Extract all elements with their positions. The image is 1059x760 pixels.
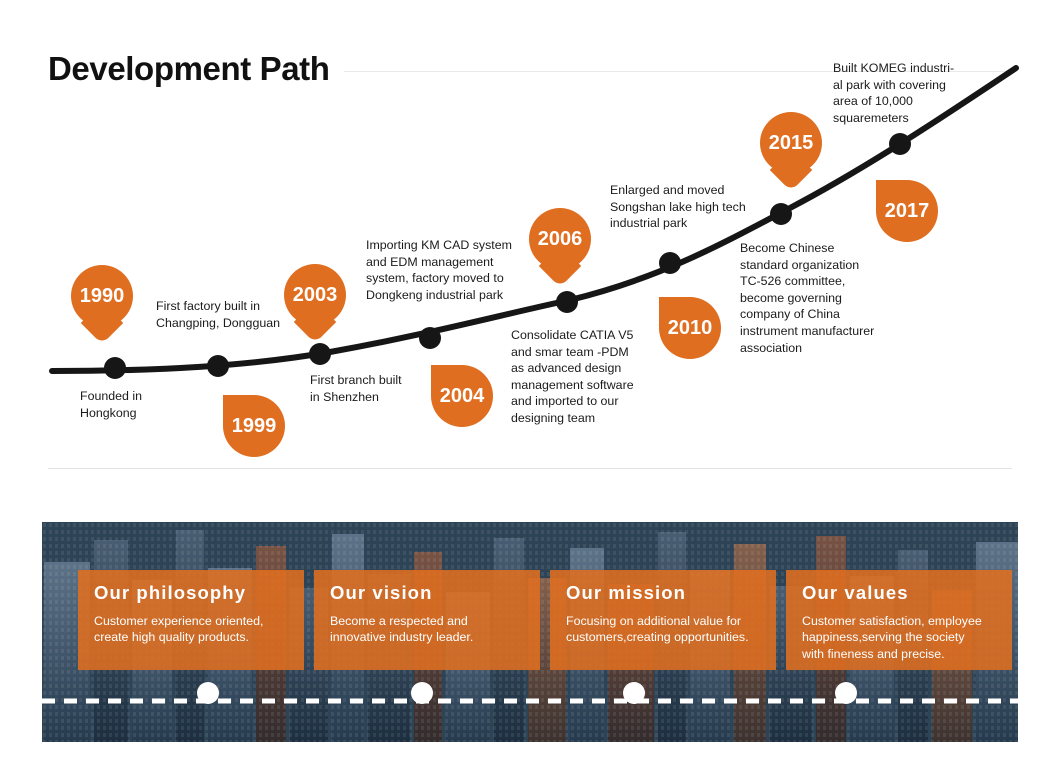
panel-heading: Our philosophy — [94, 582, 288, 604]
timeline-node-2003 — [309, 343, 331, 365]
values-banner: Our philosophy Customer experience orien… — [42, 522, 1018, 742]
progress-marker-1[interactable] — [197, 682, 219, 704]
panel-body: Customer satisfaction, employee happines… — [802, 613, 996, 662]
panel-our-philosophy[interactable]: Our philosophy Customer experience orien… — [78, 570, 304, 670]
timeline-node-1990 — [104, 357, 126, 379]
pin-year-label: 2003 — [293, 284, 338, 307]
timeline-note-1990: Founded in Hongkong — [80, 388, 220, 421]
timeline-note-2017: Built KOMEG industri- al park with cover… — [833, 60, 973, 126]
panel-heading: Our mission — [566, 582, 760, 604]
timeline-node-2010 — [659, 252, 681, 274]
progress-marker-4[interactable] — [835, 682, 857, 704]
timeline-node-1999 — [207, 355, 229, 377]
timeline-pin-1999[interactable]: 1999 — [223, 395, 285, 457]
timeline-node-2004 — [419, 327, 441, 349]
panel-body: Become a respected and innovative indust… — [330, 613, 524, 646]
progress-marker-3[interactable] — [623, 682, 645, 704]
panel-our-mission[interactable]: Our mission Focusing on additional value… — [550, 570, 776, 670]
timeline-pin-2015[interactable]: 2015 — [760, 112, 822, 174]
timeline-pin-2010[interactable]: 2010 — [659, 297, 721, 359]
pin-year-label: 1999 — [232, 415, 277, 438]
timeline-note-2006: Consolidate CATIA V5 and smar team -PDM … — [511, 327, 681, 427]
pin-year-label: 2006 — [538, 228, 583, 251]
timeline-note-2010: Enlarged and moved Songshan lake high te… — [610, 182, 805, 232]
panel-body: Focusing on additional value for custome… — [566, 613, 760, 646]
pin-year-label: 2017 — [885, 200, 930, 223]
pin-year-label: 2010 — [668, 317, 713, 340]
progress-dashed-line — [42, 688, 1018, 714]
panel-our-vision[interactable]: Our vision Become a respected and innova… — [314, 570, 540, 670]
timeline-pin-1990[interactable]: 1990 — [71, 265, 133, 327]
timeline-note-2015: Become Chinese standard organization TC-… — [740, 240, 900, 356]
pin-year-label: 2004 — [440, 385, 485, 408]
timeline-pin-2003[interactable]: 2003 — [284, 264, 346, 326]
progress-marker-2[interactable] — [411, 682, 433, 704]
timeline-pin-2004[interactable]: 2004 — [431, 365, 493, 427]
timeline-pin-2006[interactable]: 2006 — [529, 208, 591, 270]
panel-our-values[interactable]: Our values Customer satisfaction, employ… — [786, 570, 1012, 670]
panel-heading: Our values — [802, 582, 996, 604]
timeline-node-2017 — [889, 133, 911, 155]
pin-year-label: 2015 — [769, 132, 814, 155]
timeline-pin-2017[interactable]: 2017 — [876, 180, 938, 242]
pin-year-label: 1990 — [80, 285, 125, 308]
panel-body: Customer experience oriented, create hig… — [94, 613, 288, 646]
page-title: Development Path — [48, 52, 344, 85]
panel-heading: Our vision — [330, 582, 524, 604]
